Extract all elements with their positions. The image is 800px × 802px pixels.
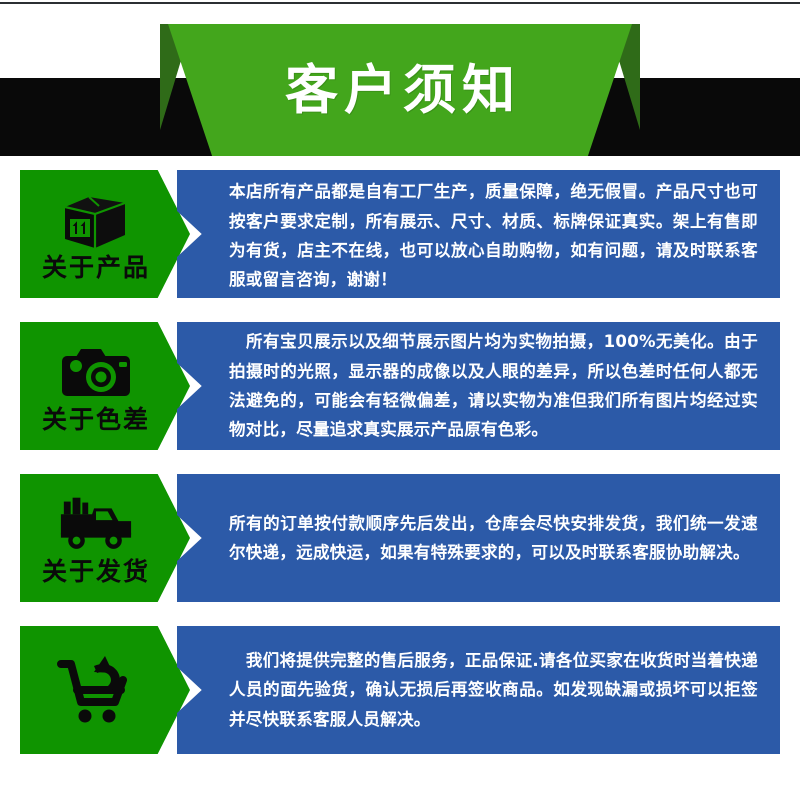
page-header: 客户须知 (0, 0, 800, 170)
notice-list: 关于产品 本店所有产品都是自有工厂生产，质量保障，绝无假冒。产品尺寸也可按客户要… (0, 170, 800, 778)
notice-icon-label: 关于发货 (42, 559, 150, 584)
package-box-icon (58, 189, 134, 251)
notice-text-panel: 我们将提供完整的售后服务，正品保证.请各位买家在收货时当着快递人员的面先验货，确… (177, 626, 780, 754)
notice-icon-card[interactable]: 关于发货 (20, 474, 190, 602)
notice-text-panel: 所有的订单按付款顺序先后发出，仓库会尽快安排发货，我们统一发速尔快递，远成快运，… (177, 474, 780, 602)
page-title: 客户须知 (168, 24, 632, 156)
notice-row: 关于产品 本店所有产品都是自有工厂生产，质量保障，绝无假冒。产品尺寸也可按客户要… (0, 170, 800, 298)
ribbon-banner: 客户须知 (168, 24, 632, 156)
notice-text: 本店所有产品都是自有工厂生产，质量保障，绝无假冒。产品尺寸也可按客户要求定制，所… (177, 173, 780, 294)
delivery-truck-icon (58, 493, 134, 555)
notice-icon-card[interactable]: 关于色差 (20, 322, 190, 450)
notice-text-panel: 本店所有产品都是自有工厂生产，质量保障，绝无假冒。产品尺寸也可按客户要求定制，所… (177, 170, 780, 298)
notice-icon-label: 关于产品 (42, 255, 150, 280)
notice-icon-card[interactable]: 关于产品 (20, 170, 190, 298)
notice-text-panel: 所有宝贝展示以及细节展示图片均为实物拍摄，100%无美化。由于拍摄时的光照，显示… (177, 322, 780, 450)
notice-text: 我们将提供完整的售后服务，正品保证.请各位买家在收货时当着快递人员的面先验货，确… (177, 646, 780, 734)
notice-text: 所有宝贝展示以及细节展示图片均为实物拍摄，100%无美化。由于拍摄时的光照，显示… (177, 327, 780, 444)
notice-row: 我们将提供完整的售后服务，正品保证.请各位买家在收货时当着快递人员的面先验货，确… (0, 626, 800, 754)
notice-icon-card[interactable] (20, 626, 190, 754)
notice-row: 关于发货 所有的订单按付款顺序先后发出，仓库会尽快安排发货，我们统一发速尔快递，… (0, 474, 800, 602)
camera-icon (58, 341, 134, 403)
return-cart-icon (53, 652, 139, 728)
notice-row: 关于色差 所有宝贝展示以及细节展示图片均为实物拍摄，100%无美化。由于拍摄时的… (0, 322, 800, 450)
notice-icon-label: 关于色差 (42, 407, 150, 432)
notice-text: 所有的订单按付款顺序先后发出，仓库会尽快安排发货，我们统一发速尔快递，远成快运，… (177, 509, 780, 568)
